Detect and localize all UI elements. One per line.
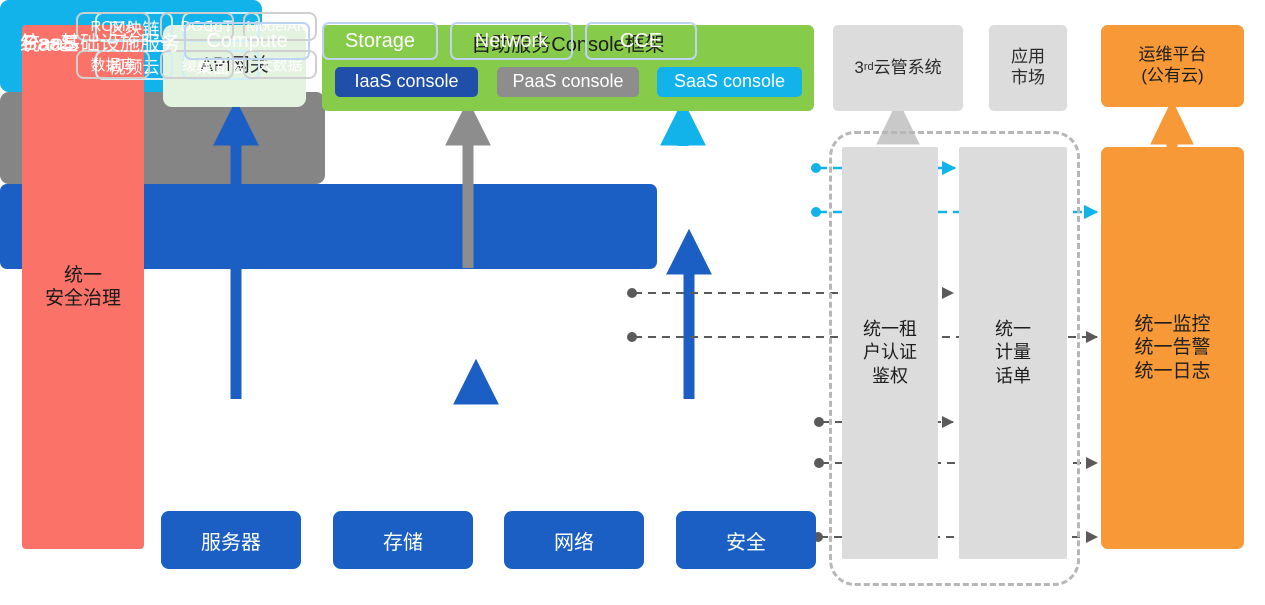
infrastructure-label: 统一基础设施服务 <box>14 27 186 56</box>
chip-paas-console[interactable]: PaaS console <box>497 67 639 97</box>
chip-iaas-console[interactable]: IaaS console <box>335 67 478 97</box>
box-server[interactable]: 服务器 <box>161 511 301 569</box>
chip-cce[interactable]: CCE <box>585 22 697 60</box>
chip-saas-console[interactable]: SaaS console <box>657 67 802 97</box>
panel-third-party-cloud-management: 3rd云管系统 <box>833 25 963 111</box>
arrow-saas-to-console <box>669 112 697 146</box>
panel-unified-security-governance: 统一 安全治理 <box>22 25 144 549</box>
panel-ops-platform-public-cloud: 运维平台 (公有云) <box>1101 25 1244 107</box>
third-cloud-prefix: 3 <box>854 58 863 79</box>
panel-unified-monitor-alarm-log: 统一监控 统一告警 统一日志 <box>1101 147 1244 549</box>
box-security[interactable]: 安全 <box>676 511 816 569</box>
column-unified-tenant-auth: 统一租 户认证 鉴权 <box>842 147 938 559</box>
chip-network[interactable]: Network <box>450 22 573 60</box>
box-network[interactable]: 网络 <box>504 511 644 569</box>
chip-compute[interactable]: Compute <box>184 22 310 60</box>
box-storage[interactable]: 存储 <box>333 511 473 569</box>
arrow-infra-to-paas <box>462 371 490 399</box>
panel-application-marketplace: 应用 市场 <box>989 25 1067 111</box>
third-cloud-superscript: rd <box>864 61 874 74</box>
third-cloud-suffix: 云管系统 <box>874 58 942 79</box>
architecture-diagram: 统一租 户认证 鉴权 统一 计量 话单 统一 安全治理 API网关 自助服务Co… <box>0 0 1265 605</box>
arrow-infra-to-saas <box>675 241 703 399</box>
chip-storage[interactable]: Storage <box>322 22 438 60</box>
arrow-ops-main-to-top <box>1159 112 1185 147</box>
column-unified-metering: 统一 计量 话单 <box>959 147 1067 559</box>
